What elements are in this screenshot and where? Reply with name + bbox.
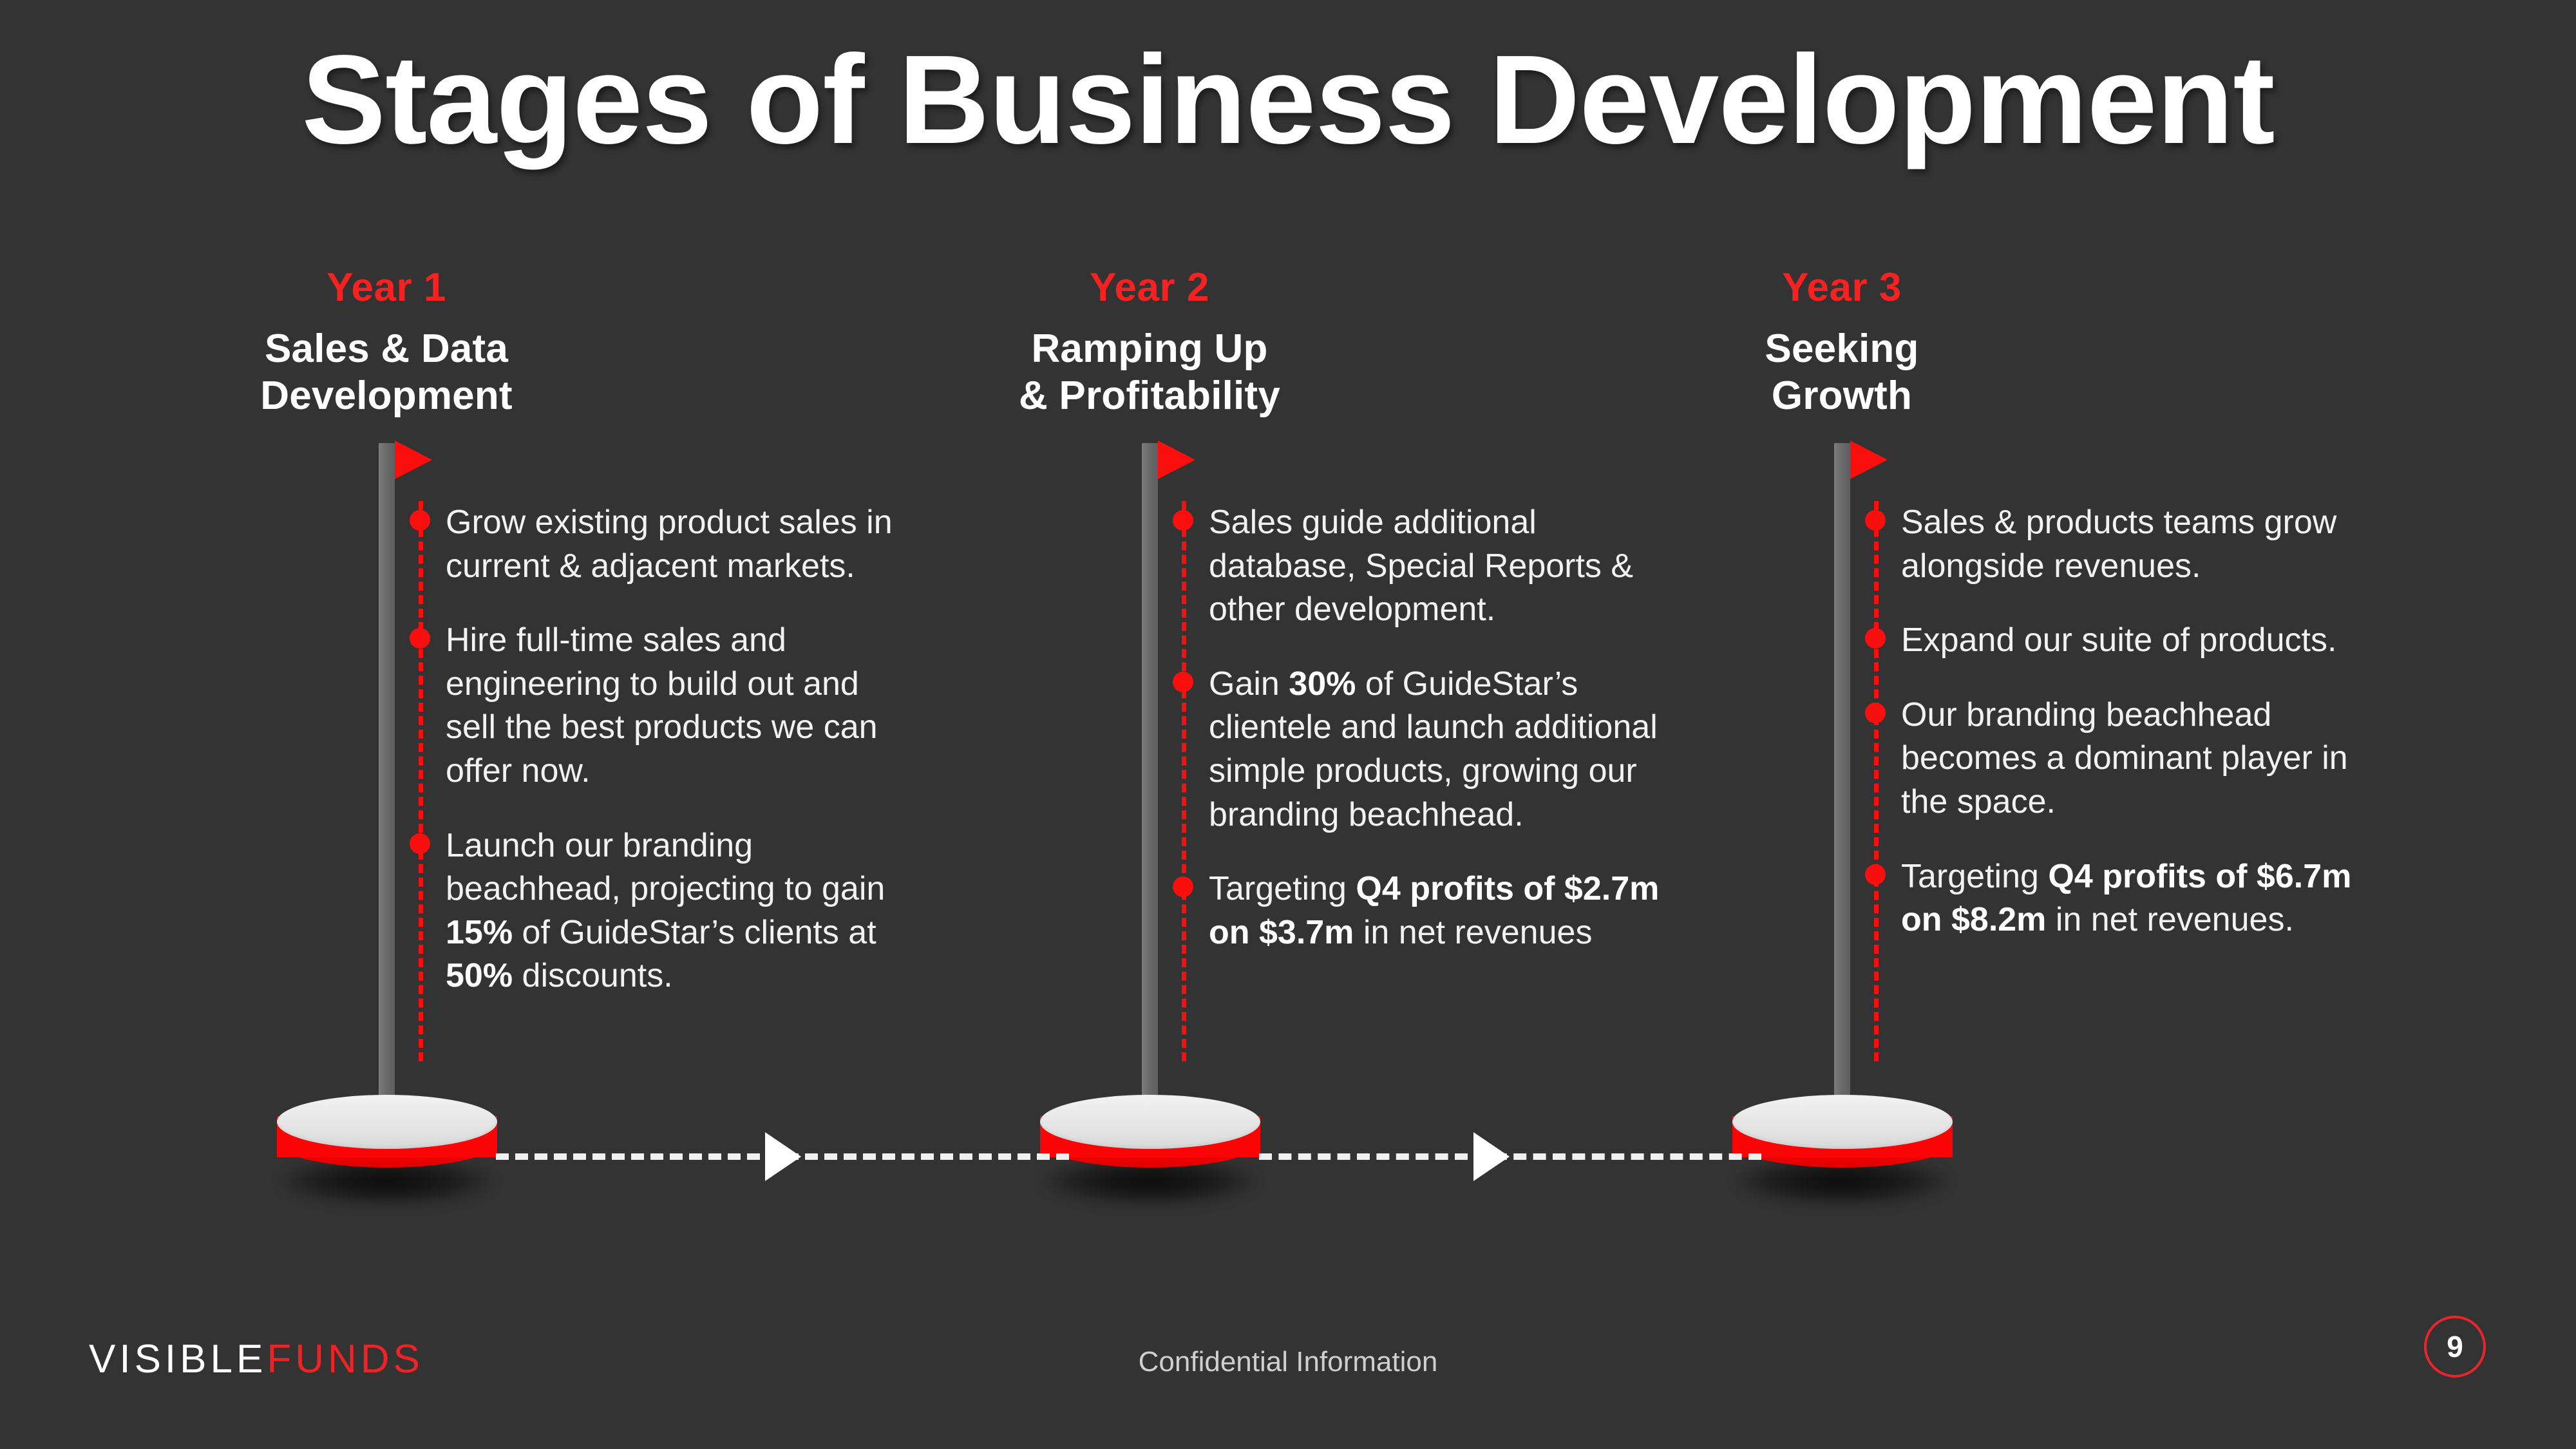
list-item: Hire full-time sales and engineering to …: [419, 619, 908, 793]
stage-subtitle: Ramping Up & Profitability: [860, 325, 1439, 419]
bullet-text: Gain 30% of GuideStar’s clientele and la…: [1209, 663, 1671, 837]
list-item: Targeting Q4 profits of $2.7m on $3.7m i…: [1182, 867, 1671, 954]
list-item: Expand our suite of products.: [1874, 619, 2363, 663]
bullet-dot-icon: [1173, 510, 1193, 531]
stage-header-year-2: Year 2 Ramping Up & Profitability: [860, 264, 1439, 419]
stage-subtitle: Seeking Growth: [1552, 325, 2132, 419]
base-top: [277, 1095, 497, 1149]
stage-pole: [379, 443, 395, 1126]
list-item: Our branding beachhead becomes a dominan…: [1874, 694, 2363, 824]
bullet-dot-icon: [1865, 864, 1886, 885]
stage-header-year-1: Year 1 Sales & Data Development: [97, 264, 676, 419]
stage-subtitle: Sales & Data Development: [97, 325, 676, 419]
base-top: [1040, 1095, 1260, 1149]
list-item: Gain 30% of GuideStar’s clientele and la…: [1182, 663, 1671, 837]
bullet-text: Targeting Q4 profits of $6.7m on $8.2m i…: [1901, 855, 2363, 942]
bullet-dot-icon: [410, 628, 430, 649]
slide-canvas: Stages of Business Development Year 1 Sa…: [0, 0, 2576, 1449]
list-item: Grow existing product sales in current &…: [419, 501, 908, 588]
stage-bullets-year-1: Grow existing product sales in current &…: [419, 501, 908, 998]
stage-flag-icon: [395, 440, 432, 479]
bullet-dot-icon: [410, 833, 430, 854]
connector-arrow-icon-1: [765, 1132, 801, 1181]
stage-year-label: Year 1: [97, 264, 676, 311]
stage-pole: [1142, 443, 1158, 1126]
list-item: Launch our branding beachhead, projectin…: [419, 824, 908, 998]
stages-columns: Year 1 Sales & Data Development Grow exi…: [0, 0, 2576, 1449]
base-top: [1732, 1095, 1953, 1149]
footer-confidential-note: Confidential Information: [0, 1346, 2576, 1378]
list-item: Targeting Q4 profits of $6.7m on $8.2m i…: [1874, 855, 2363, 942]
bullet-dot-icon: [1865, 628, 1886, 649]
stage-bullets-year-2: Sales guide additional database, Special…: [1182, 501, 1671, 954]
bullet-text: Expand our suite of products.: [1901, 619, 2336, 663]
bullet-text: Targeting Q4 profits of $2.7m on $3.7m i…: [1209, 867, 1671, 954]
list-item: Sales guide additional database, Special…: [1182, 501, 1671, 632]
page-number-badge: 9: [2424, 1316, 2486, 1378]
bullet-text: Sales guide additional database, Special…: [1209, 501, 1671, 632]
bullet-dot-icon: [1173, 876, 1193, 897]
bullet-text: Grow existing product sales in current &…: [446, 501, 908, 588]
bullet-dot-icon: [1865, 510, 1886, 531]
bullet-text: Our branding beachhead becomes a dominan…: [1901, 694, 2363, 824]
stage-year-label: Year 3: [1552, 264, 2132, 311]
stage-bullets-year-3: Sales & products teams grow alongside re…: [1874, 501, 2363, 942]
stage-flag-icon: [1158, 440, 1195, 479]
bullet-dot-icon: [1173, 672, 1193, 692]
connector-arrow-icon-2: [1473, 1132, 1510, 1181]
stage-header-year-3: Year 3 Seeking Growth: [1552, 264, 2132, 419]
stage-pole: [1834, 443, 1850, 1126]
bullet-dot-icon: [410, 510, 430, 531]
list-item: Sales & products teams grow alongside re…: [1874, 501, 2363, 588]
bullet-text: Hire full-time sales and engineering to …: [446, 619, 908, 793]
stage-year-label: Year 2: [860, 264, 1439, 311]
bullet-text: Launch our branding beachhead, projectin…: [446, 824, 908, 998]
connector-path-2: [1259, 1153, 1761, 1160]
bullet-text: Sales & products teams grow alongside re…: [1901, 501, 2363, 588]
bullet-dot-icon: [1865, 703, 1886, 723]
stage-flag-icon: [1850, 440, 1888, 479]
